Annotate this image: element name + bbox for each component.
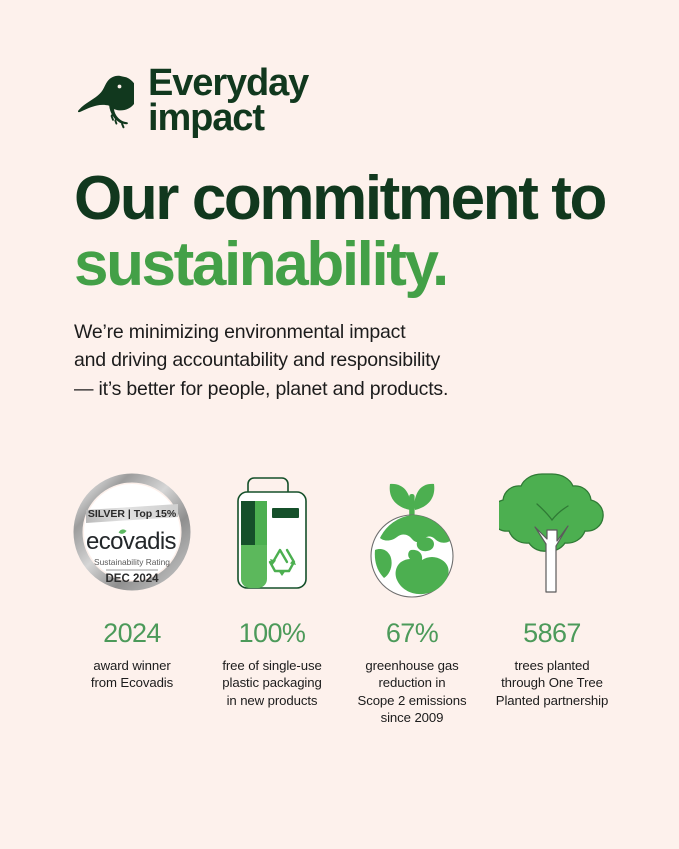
globe-sprout-icon <box>353 462 471 602</box>
recyclable-packaging-icon <box>224 462 320 602</box>
stat-value: 5867 <box>523 620 581 647</box>
caption-line: greenhouse gas <box>358 657 467 674</box>
stat-caption: award winner from Ecovadis <box>91 657 173 692</box>
badge-date-text: DEC 2024 <box>105 573 159 585</box>
stat-emissions: 67% greenhouse gas reduction in Scope 2 … <box>342 462 482 727</box>
stat-caption: free of single-use plastic packaging in … <box>222 657 321 709</box>
caption-line: from Ecovadis <box>91 674 173 691</box>
caption-line: Planted partnership <box>496 692 608 709</box>
caption-line: through One Tree <box>496 674 608 691</box>
caption-line: free of single-use <box>222 657 321 674</box>
caption-line: trees planted <box>496 657 608 674</box>
badge-subtitle-text: Sustainability Rating <box>94 557 170 567</box>
headline-line-1: Our commitment <box>74 164 536 233</box>
ecovadis-badge-icon: SILVER | Top 15% ecovadis Sustainability… <box>70 462 194 602</box>
stat-value: 2024 <box>103 620 161 647</box>
stat-value: 67% <box>386 620 438 647</box>
caption-line: in new products <box>222 692 321 709</box>
intro-line-3: — it’s better for people, planet and pro… <box>74 375 574 403</box>
badge-brand-text: ecovadis <box>86 528 177 555</box>
stat-trees: 5867 trees planted through One Tree Plan… <box>482 462 622 727</box>
badge-tier-text: SILVER | Top 15% <box>88 508 177 520</box>
page-title: Our commitment to sustainability. <box>74 166 634 299</box>
stat-caption: greenhouse gas reduction in Scope 2 emis… <box>358 657 467 727</box>
intro-line-2: and driving accountability and responsib… <box>74 346 574 374</box>
brand-logo: Everyday impact <box>78 66 308 136</box>
caption-line: reduction in <box>358 674 467 691</box>
tree-icon <box>499 462 605 602</box>
logo-wordmark: Everyday impact <box>148 66 308 136</box>
caption-line: plastic packaging <box>222 674 321 691</box>
logo-line-1: Everyday <box>148 66 308 101</box>
stats-row: SILVER | Top 15% ecovadis Sustainability… <box>62 462 622 727</box>
headline-accent: sustainability. <box>74 230 447 299</box>
headline-prefix: to <box>551 164 605 233</box>
bird-icon <box>78 70 134 132</box>
intro-line-1: We’re minimizing environmental impact <box>74 318 574 346</box>
caption-line: Scope 2 emissions <box>358 692 467 709</box>
stat-caption: trees planted through One Tree Planted p… <box>496 657 608 709</box>
caption-line: award winner <box>91 657 173 674</box>
stat-packaging: 100% free of single-use plastic packagin… <box>202 462 342 727</box>
intro-paragraph: We’re minimizing environmental impact an… <box>74 318 574 403</box>
stat-value: 100% <box>239 620 306 647</box>
caption-line: since 2009 <box>358 709 467 726</box>
logo-line-2: impact <box>148 101 308 136</box>
sustainability-infographic: Everyday impact Our commitment to sustai… <box>0 0 679 849</box>
stat-ecovadis: SILVER | Top 15% ecovadis Sustainability… <box>62 462 202 727</box>
